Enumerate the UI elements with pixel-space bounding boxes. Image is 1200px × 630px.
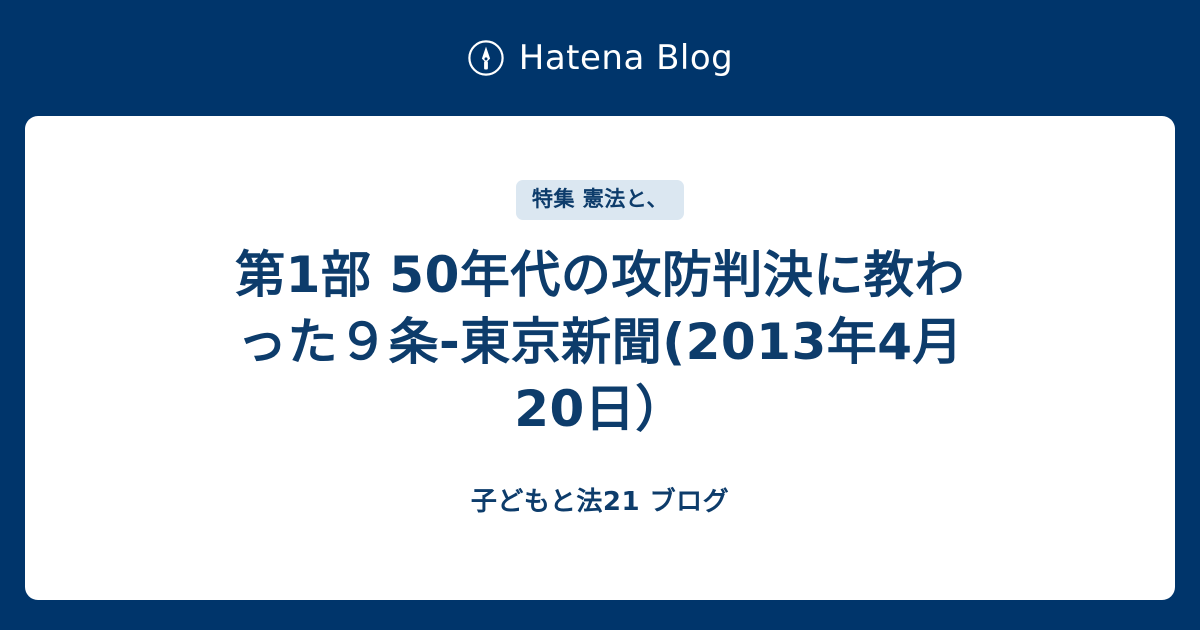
ogp-card-root: Hatena Blog 特集 憲法と、 第1部 50年代の攻防判決に教わった９条… xyxy=(0,0,1200,630)
category-tag[interactable]: 特集 憲法と、 xyxy=(516,180,684,220)
hatena-blog-wordmark: Hatena Blog xyxy=(519,41,734,75)
brand-header: Hatena Blog xyxy=(0,0,1200,116)
entry-card-inner: 特集 憲法と、 第1部 50年代の攻防判決に教わった９条-東京新聞(2013年4… xyxy=(120,116,1080,518)
entry-card: 特集 憲法と、 第1部 50年代の攻防判決に教わった９条-東京新聞(2013年4… xyxy=(25,116,1175,600)
entry-title: 第1部 50年代の攻防判決に教わった９条-東京新聞(2013年4月20日） xyxy=(220,242,980,443)
blog-name: 子どもと法21 ブログ xyxy=(120,487,1080,518)
category-tag-row: 特集 憲法と、 xyxy=(120,180,1080,220)
hatena-pen-nib-icon xyxy=(467,39,505,77)
